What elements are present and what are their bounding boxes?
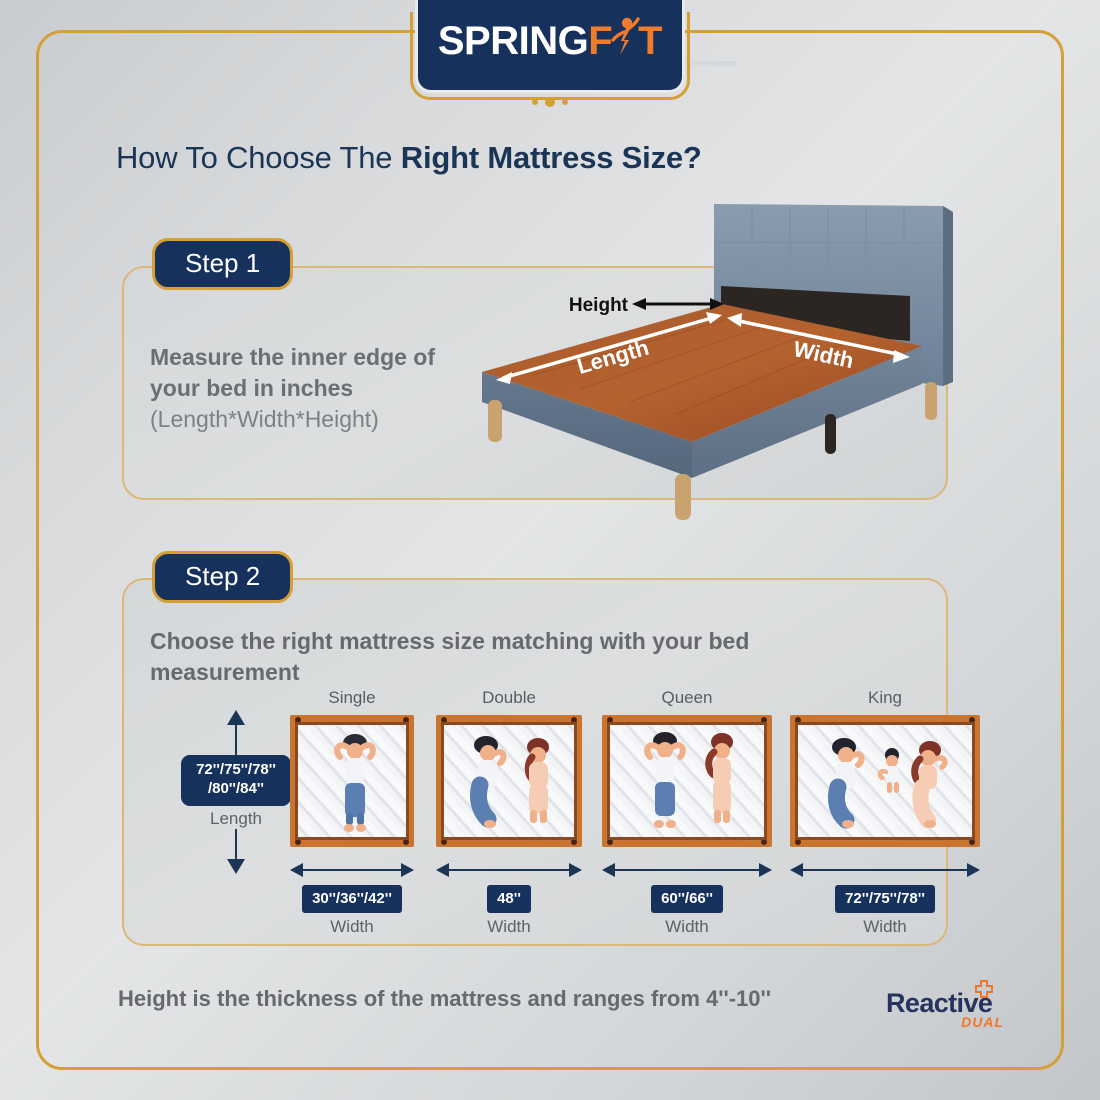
- logo-spring-text: SPRING: [438, 19, 588, 64]
- running-figure-icon: [612, 19, 638, 63]
- page-title: How To Choose The Right Mattress Size?: [116, 140, 702, 176]
- size-name-queen: Queen: [602, 688, 772, 708]
- sleeper-figures-king: [798, 725, 975, 837]
- bed-leg: [825, 414, 836, 454]
- step-1-heading: Measure the inner edge of your bed in in…: [150, 342, 480, 434]
- bed-leg: [925, 382, 937, 420]
- plus-cross-icon: [974, 978, 994, 1005]
- bed-height-label: Height: [569, 295, 629, 316]
- width-value-single: 30''/36''/42'': [302, 885, 402, 913]
- length-label: Length: [176, 809, 296, 829]
- reactive-logo-main: Reactive: [886, 990, 1066, 1017]
- size-name-double: Double: [436, 688, 582, 708]
- height-callout-arrow: [632, 298, 724, 310]
- size-name-single: Single: [290, 688, 414, 708]
- mattress-surface-single: [295, 722, 409, 840]
- sleeper-figures-double: [444, 725, 577, 837]
- size-column-double[interactable]: Double: [436, 688, 582, 937]
- width-arrow-queen: [602, 861, 772, 879]
- bed-illustration: Length Width Height: [470, 186, 980, 530]
- step-1-heading-text: Measure the inner edge of your bed in in…: [150, 344, 435, 401]
- width-arrow-double: [436, 861, 582, 879]
- page-title-regular: How To Choose The: [116, 140, 401, 175]
- length-arrow-shaft-top: [235, 725, 237, 755]
- mattress-double: [436, 715, 582, 847]
- size-column-single[interactable]: Single 30''/3: [290, 688, 414, 937]
- width-value-king: 72''/75''/78'': [835, 885, 935, 913]
- step-2-heading: Choose the right mattress size matching …: [150, 626, 880, 688]
- width-value-double: 48'': [487, 885, 531, 913]
- length-value-line2: /80''/84'': [208, 780, 264, 797]
- frame-dot-ornament: [532, 97, 568, 107]
- bed-leg: [675, 474, 691, 520]
- length-arrow-up-icon: [227, 710, 245, 725]
- step-1-badge: Step 1: [152, 238, 293, 290]
- size-column-king[interactable]: King: [790, 688, 980, 937]
- size-name-king: King: [790, 688, 980, 708]
- width-label-single: Width: [290, 917, 414, 937]
- width-label-king: Width: [790, 917, 980, 937]
- width-label-double: Width: [436, 917, 582, 937]
- reactive-dual-logo: Reactive DUAL: [886, 990, 1066, 1036]
- width-value-queen: 60''/66'': [651, 885, 723, 913]
- sleeper-figures-single: [298, 725, 409, 837]
- footer-note: Height is the thickness of the mattress …: [118, 986, 771, 1012]
- logo-wordmark: SPRINGF T: [438, 19, 662, 64]
- width-arrow-single: [290, 861, 414, 879]
- mattress-surface-queen: [607, 722, 767, 840]
- step-1-subtext: (Length*Width*Height): [150, 404, 480, 435]
- logo-plate: SPRINGF T: [415, 0, 685, 93]
- step-2-badge: Step 2: [152, 551, 293, 603]
- logo-t-text: T: [638, 19, 662, 64]
- length-arrow-down-icon: [227, 859, 245, 874]
- mattress-surface-king: [795, 722, 975, 840]
- mattress-king: [790, 715, 980, 847]
- length-arrow-shaft-bottom: [235, 829, 237, 859]
- width-label-queen: Width: [602, 917, 772, 937]
- length-measure-column: 72''/75''/78'' /80''/84'' Length: [176, 710, 296, 874]
- length-value-line1: 72''/75''/78'': [196, 761, 276, 778]
- bed-leg: [488, 400, 502, 442]
- mattress-size-comparison: 72''/75''/78'' /80''/84'' Length Single: [150, 688, 940, 938]
- mattress-single: [290, 715, 414, 847]
- length-value-badge: 72''/75''/78'' /80''/84'': [181, 755, 291, 806]
- logo-f-text: F: [588, 19, 612, 64]
- size-column-queen[interactable]: Queen: [602, 688, 772, 937]
- page-title-bold: Right Mattress Size?: [401, 140, 702, 175]
- brand-logo: SPRINGF T: [410, 12, 690, 100]
- width-arrow-king: [790, 861, 980, 879]
- mattress-surface-double: [441, 722, 577, 840]
- sleeper-figures-queen: [610, 725, 767, 837]
- mattress-queen: [602, 715, 772, 847]
